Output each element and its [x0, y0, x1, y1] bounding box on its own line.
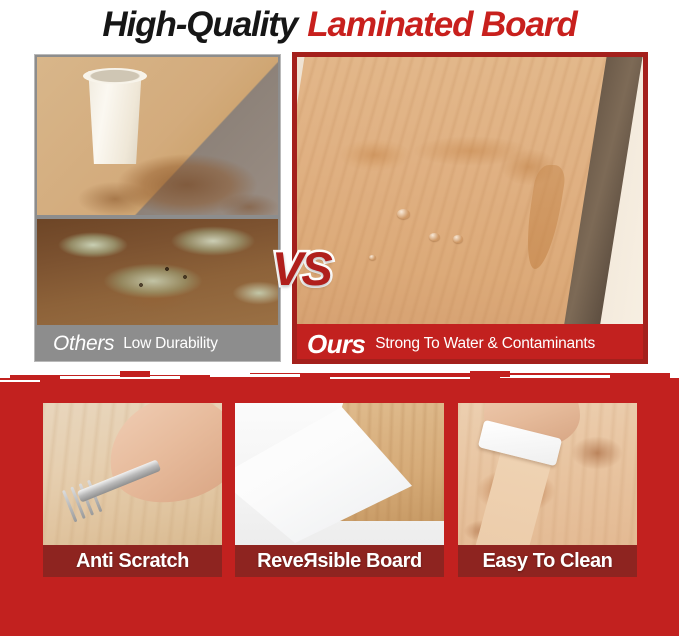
ours-caption: Ours Strong To Water & Contaminants — [292, 324, 648, 364]
title-part-red: Laminated Board — [307, 5, 576, 45]
feature-card-reversible-board[interactable]: ReveЯsible Board — [232, 400, 447, 580]
others-caption: Others Low Durability — [35, 327, 280, 361]
comparison-section: Others Low Durability Ours Strong To Wat… — [0, 52, 679, 364]
photo-laminated-board — [297, 57, 643, 329]
photo-mold-growth — [37, 219, 278, 325]
others-panel: Others Low Durability — [35, 55, 280, 361]
others-heading: Others — [53, 332, 114, 356]
fork-tines — [62, 474, 118, 525]
feature-label-anti-scratch: Anti Scratch — [43, 545, 222, 577]
water-droplet — [369, 255, 376, 260]
ours-panel: Ours Strong To Water & Contaminants — [292, 52, 648, 364]
paper-cup-rim — [83, 68, 147, 84]
photo-fork-scratch-test — [43, 403, 222, 551]
liquid-pool — [333, 111, 553, 203]
photo-reversible-board — [235, 403, 444, 551]
page-title: High-Quality Laminated Board — [0, 0, 679, 50]
title-part-black: High-Quality — [102, 5, 297, 45]
water-droplet — [453, 235, 463, 243]
ours-subtext: Strong To Water & Contaminants — [375, 335, 595, 353]
feature-card-anti-scratch[interactable]: Anti Scratch — [40, 400, 225, 580]
water-droplet — [397, 209, 410, 219]
feature-label-easy-to-clean: Easy To Clean — [458, 545, 637, 577]
brush-stroke-edge — [0, 369, 679, 391]
vs-badge: VS — [272, 245, 331, 292]
others-subtext: Low Durability — [123, 335, 218, 353]
feature-label-reversible-board: ReveЯsible Board — [235, 545, 444, 577]
photo-coffee-spill — [37, 57, 278, 215]
water-droplet — [429, 233, 440, 241]
photo-wiping-spill — [458, 403, 637, 551]
feature-tiles: Anti Scratch ReveЯsible Board Easy To Cl… — [0, 400, 679, 580]
ours-heading: Ours — [307, 329, 365, 360]
feature-card-easy-to-clean[interactable]: Easy To Clean — [455, 400, 640, 580]
features-banner: Anti Scratch ReveЯsible Board Easy To Cl… — [0, 378, 679, 636]
